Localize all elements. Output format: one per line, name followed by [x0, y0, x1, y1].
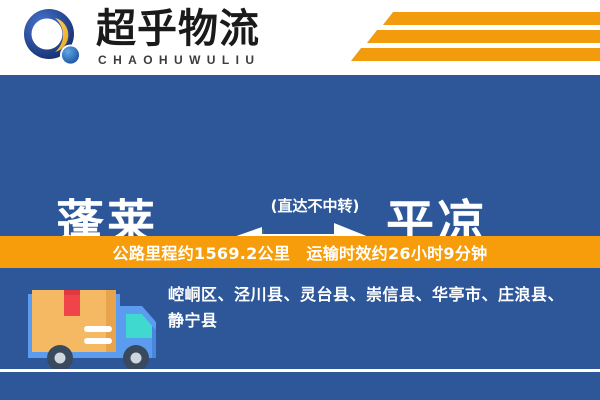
route-stats-text: 公路里程约1569.2公里 运输时效约26小时9分钟 — [113, 240, 488, 264]
banner-header: 超乎物流 CHAOHUWULIU — [0, 0, 600, 75]
route-stats-bar: 公路里程约1569.2公里 运输时效约26小时9分钟 — [0, 236, 600, 268]
brand-name-cn: 超乎物流 — [96, 7, 260, 51]
direct-shipping-note: (直达不中转) — [245, 195, 385, 216]
coverage-areas-text: 崆峒区、泾川县、灵台县、崇信县、华亭市、庄浪县、静宁县 — [168, 282, 580, 334]
delivery-truck-icon — [22, 278, 162, 378]
header-stripe-3 — [351, 48, 600, 61]
header-stripe-1 — [383, 12, 600, 25]
circle-swoosh-logo-icon — [22, 7, 84, 69]
header-stripe-2 — [367, 30, 600, 43]
logistics-route-banner: 超乎物流 CHAOHUWULIU 蓬莱 (直达不中转) 【往返运输】 平凉 公路… — [0, 0, 600, 400]
route-panel: 蓬莱 (直达不中转) 【往返运输】 平凉 — [0, 75, 600, 236]
coverage-panel: 崆峒区、泾川县、灵台县、崇信县、华亭市、庄浪县、静宁县 — [0, 268, 600, 400]
brand-logo-block: 超乎物流 CHAOHUWULIU — [22, 5, 342, 70]
bottom-divider — [0, 369, 600, 372]
brand-name-en: CHAOHUWULIU — [98, 53, 260, 67]
